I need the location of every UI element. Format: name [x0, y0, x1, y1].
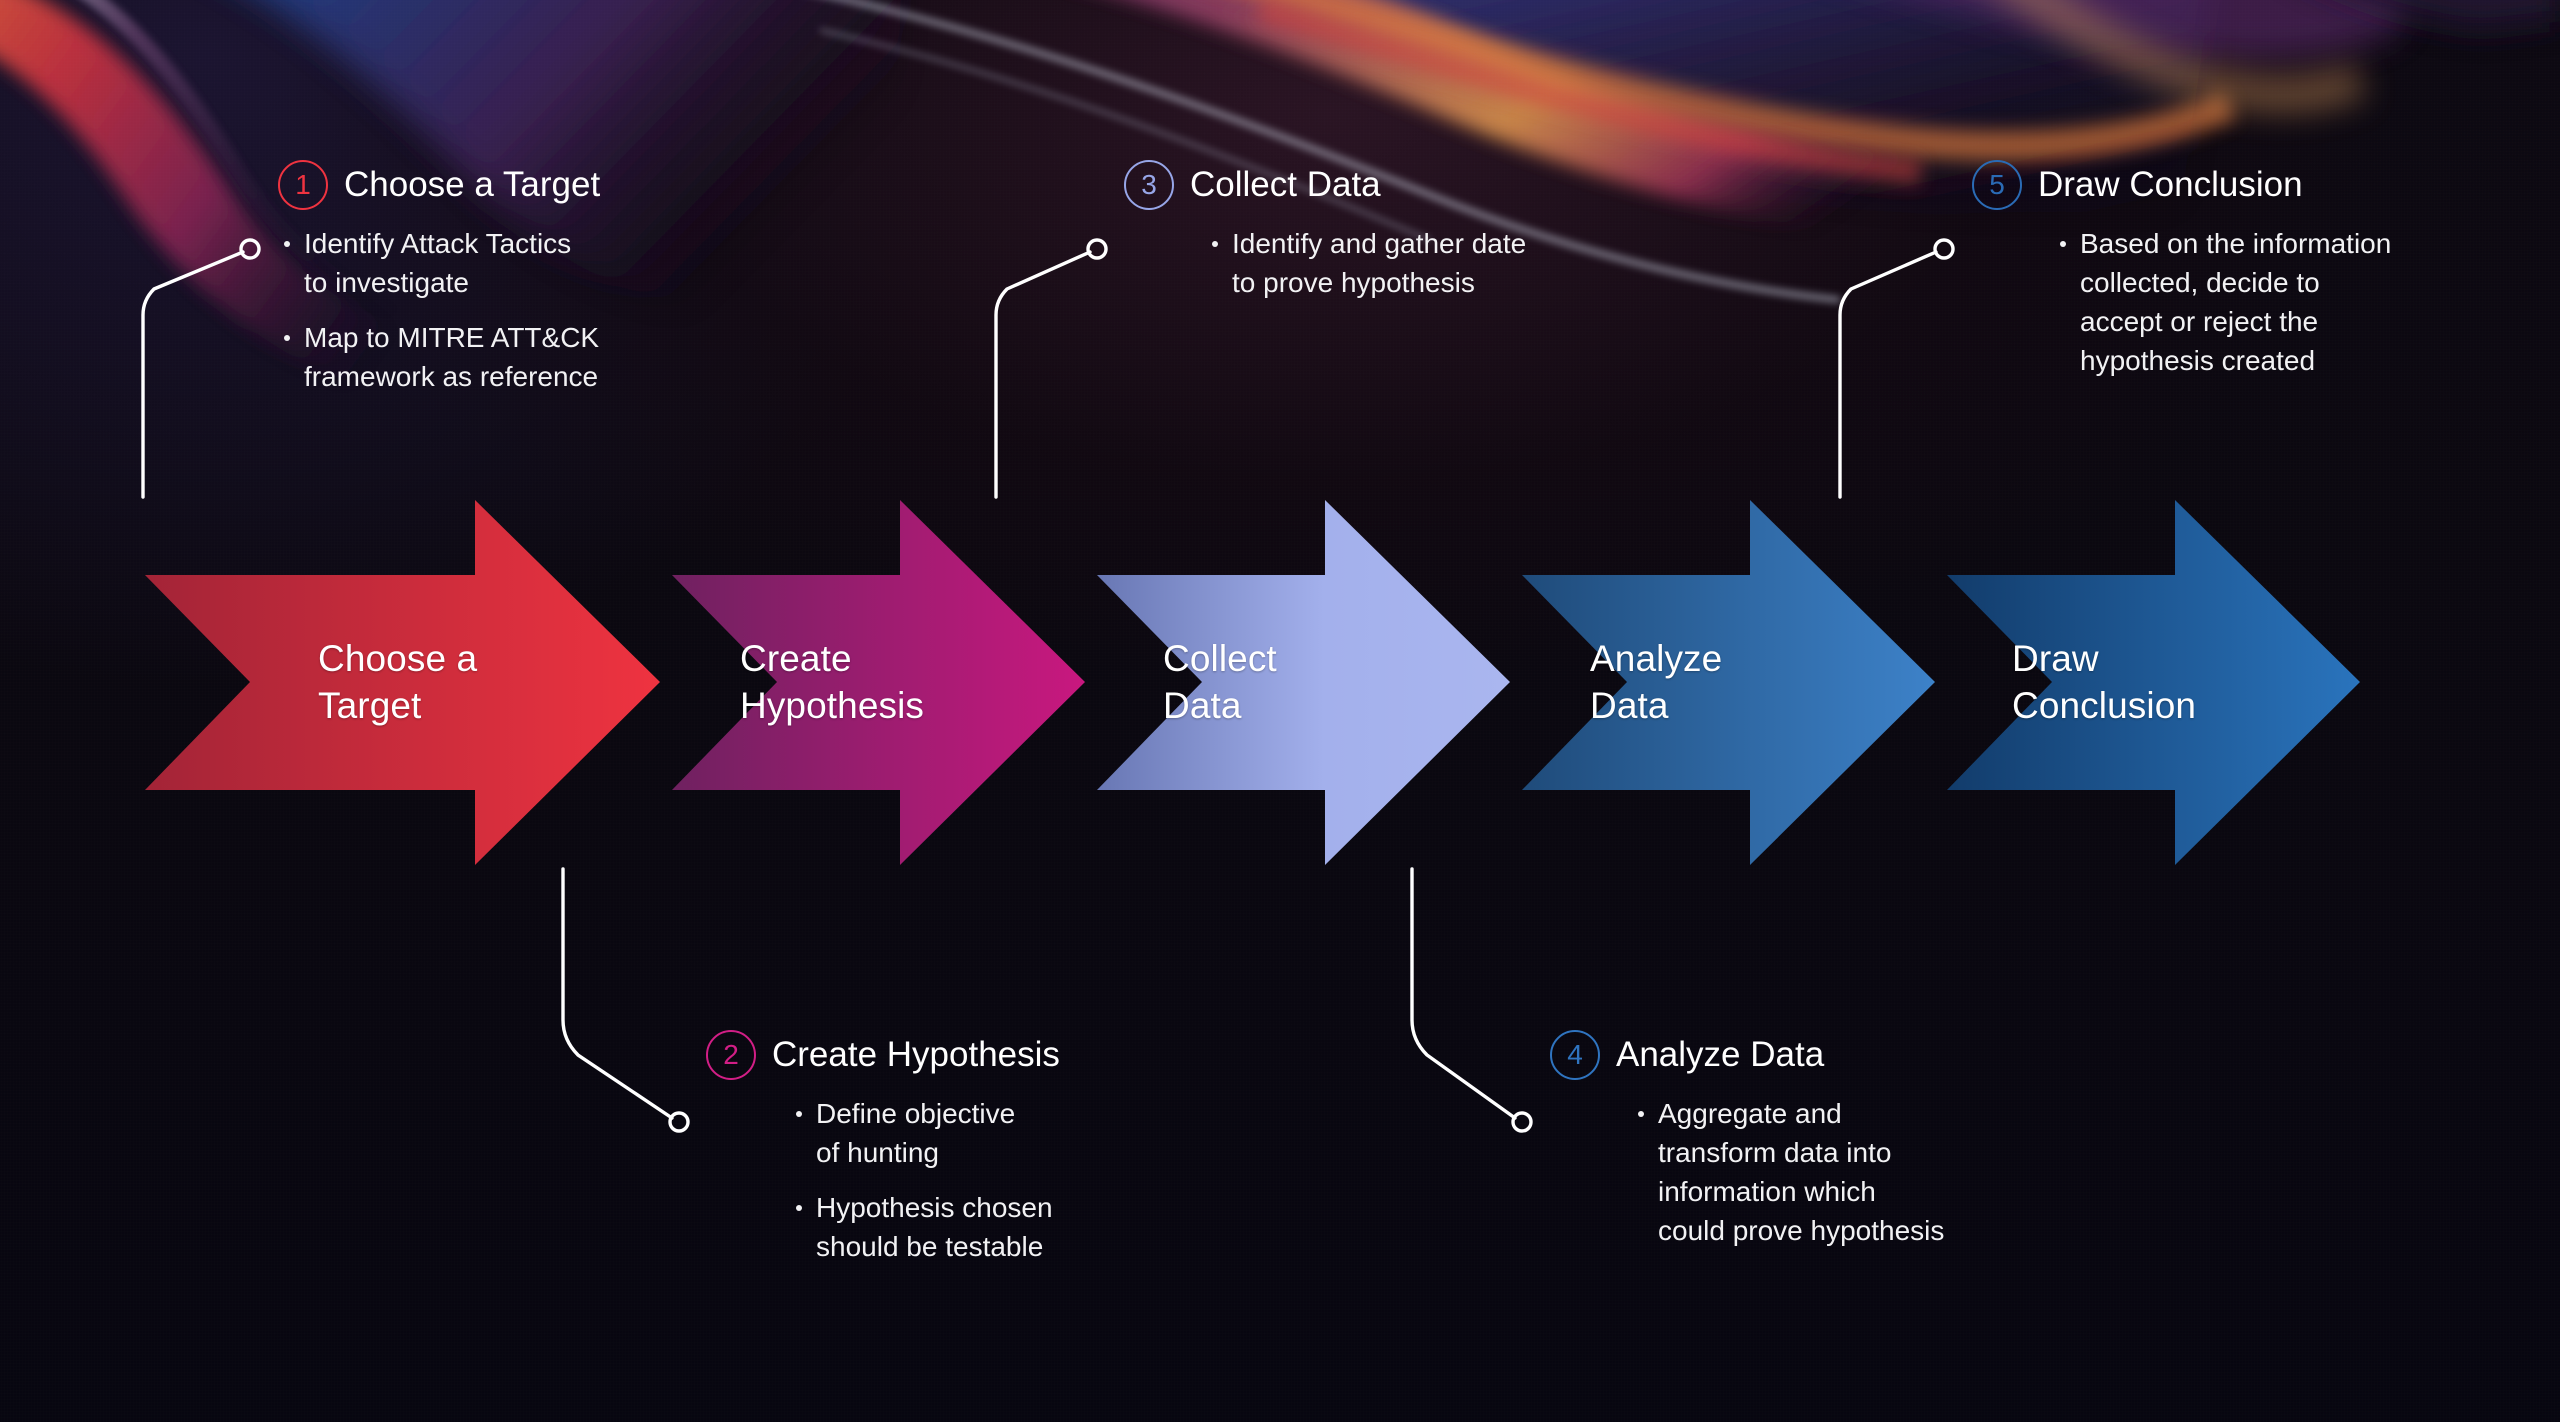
- callout-bullets-create-hypothesis: Define objective of hunting Hypothesis c…: [790, 1094, 1060, 1266]
- arrow-label-draw-conclusion: Draw Conclusion: [2012, 635, 2196, 729]
- arrow-collect-data: [1097, 500, 1510, 865]
- step-number-badge-5: 5: [1972, 160, 2022, 210]
- callout-collect-data: 3 Collect Data Identify and gather date …: [1124, 160, 1526, 302]
- bullet-item: Identify Attack Tactics to investigate: [278, 224, 600, 302]
- callout-title-create-hypothesis: Create Hypothesis: [772, 1036, 1060, 1075]
- threat-hunting-process-diagram: Choose a Target Create Hypothesis Collec…: [0, 0, 2560, 1422]
- callout-analyze-data: 4 Analyze Data Aggregate and transform d…: [1550, 1030, 1944, 1250]
- callout-header-collect-data: 3 Collect Data: [1124, 160, 1526, 210]
- arrow-label-choose-a-target: Choose a Target: [318, 635, 477, 729]
- callout-bullets-draw-conclusion: Based on the information collected, deci…: [2054, 224, 2391, 380]
- step-number-badge-4: 4: [1550, 1030, 1600, 1080]
- callout-bullets-choose-a-target: Identify Attack Tactics to investigate M…: [278, 224, 600, 396]
- callout-bullets-analyze-data: Aggregate and transform data into inform…: [1632, 1094, 1944, 1250]
- callout-title-draw-conclusion: Draw Conclusion: [2038, 166, 2303, 205]
- callout-header-analyze-data: 4 Analyze Data: [1550, 1030, 1944, 1080]
- step-number-badge-3: 3: [1124, 160, 1174, 210]
- callout-bullets-collect-data: Identify and gather date to prove hypoth…: [1206, 224, 1526, 302]
- bullet-item: Hypothesis chosen should be testable: [790, 1188, 1060, 1266]
- bullet-item: Define objective of hunting: [790, 1094, 1060, 1172]
- bullet-item: Aggregate and transform data into inform…: [1632, 1094, 1944, 1250]
- step-number-badge-1: 1: [278, 160, 328, 210]
- callout-create-hypothesis: 2 Create Hypothesis Define objective of …: [706, 1030, 1060, 1266]
- step-number-badge-2: 2: [706, 1030, 756, 1080]
- callout-draw-conclusion: 5 Draw Conclusion Based on the informati…: [1972, 160, 2391, 380]
- callout-header-choose-a-target: 1 Choose a Target: [278, 160, 600, 210]
- bullet-item: Based on the information collected, deci…: [2054, 224, 2391, 380]
- bullet-item: Map to MITRE ATT&CK framework as referen…: [278, 318, 600, 396]
- callout-header-draw-conclusion: 5 Draw Conclusion: [1972, 160, 2391, 210]
- arrow-label-collect-data: Collect Data: [1163, 635, 1277, 729]
- arrow-analyze-data: [1522, 500, 1935, 865]
- callout-header-create-hypothesis: 2 Create Hypothesis: [706, 1030, 1060, 1080]
- arrow-label-create-hypothesis: Create Hypothesis: [740, 635, 924, 729]
- callout-choose-a-target: 1 Choose a Target Identify Attack Tactic…: [278, 160, 600, 396]
- bullet-item: Identify and gather date to prove hypoth…: [1206, 224, 1526, 302]
- arrow-label-analyze-data: Analyze Data: [1590, 635, 1722, 729]
- callout-title-collect-data: Collect Data: [1190, 166, 1381, 205]
- callout-title-choose-a-target: Choose a Target: [344, 166, 600, 205]
- callout-title-analyze-data: Analyze Data: [1616, 1036, 1824, 1075]
